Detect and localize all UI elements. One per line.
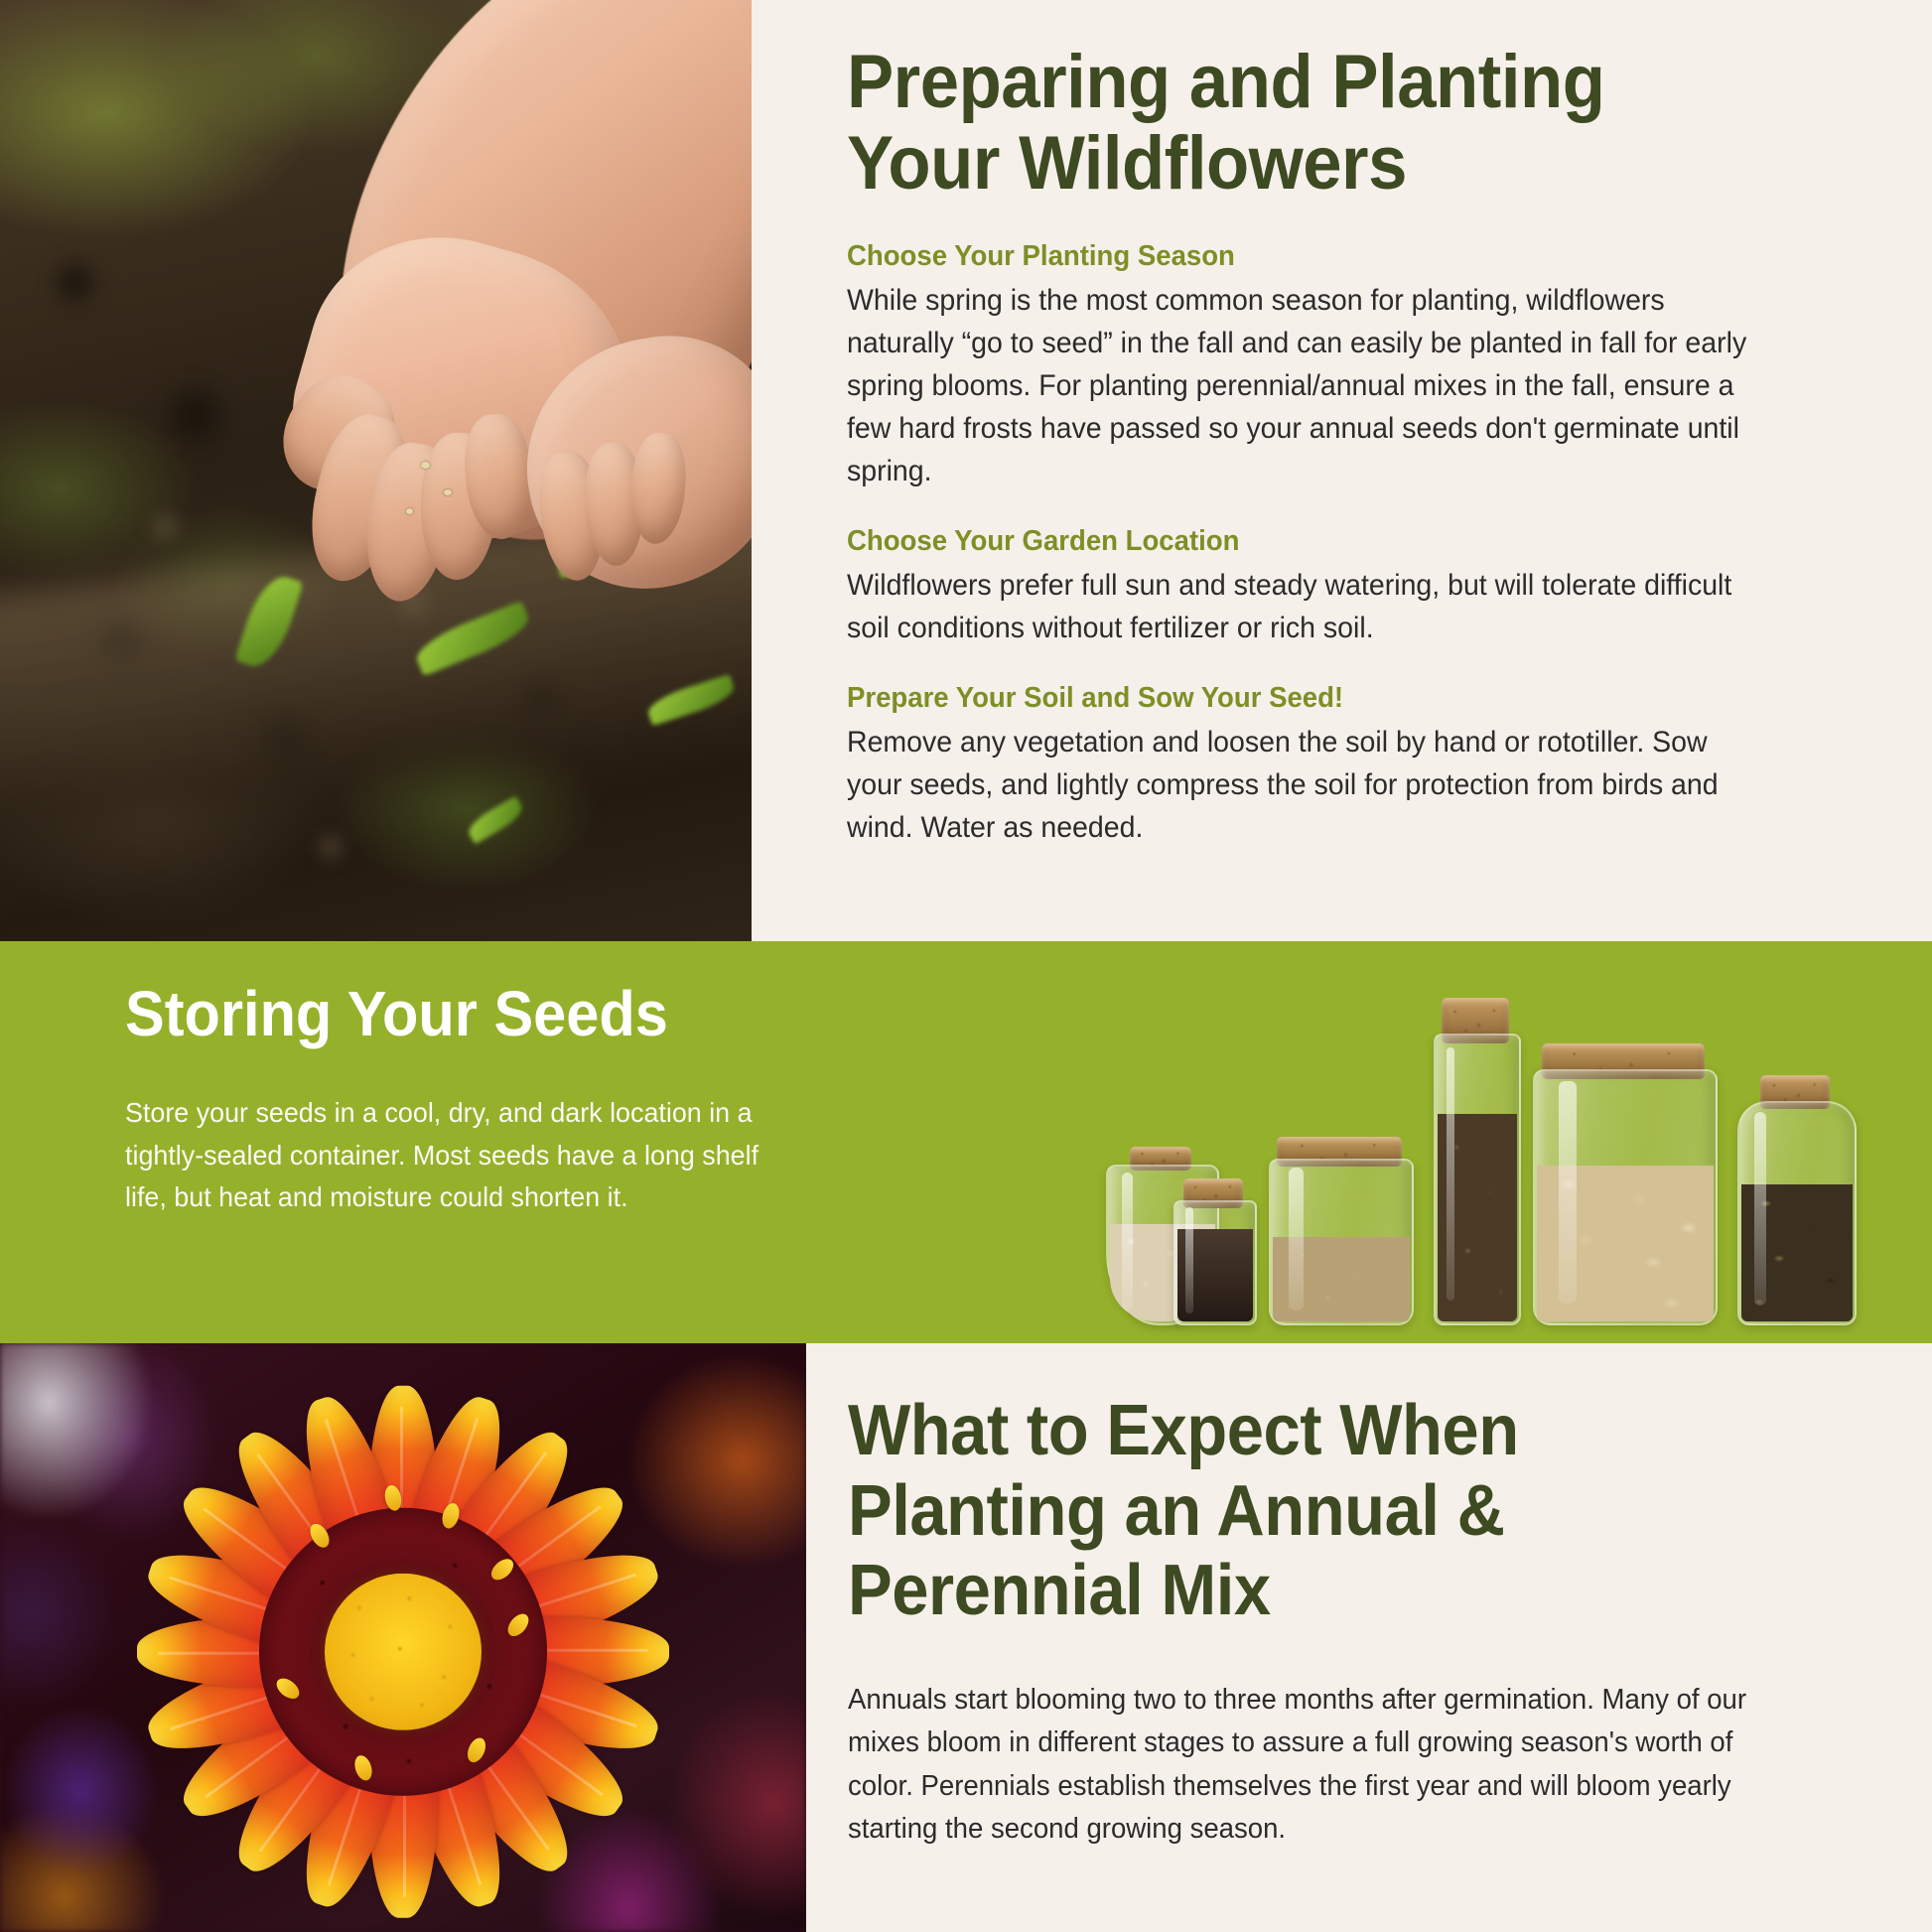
blanket-flower bbox=[61, 1343, 746, 1932]
storing-body: Store your seeds in a cool, dry, and dar… bbox=[125, 1092, 792, 1219]
flower-center bbox=[325, 1573, 482, 1729]
seed-jars-photo bbox=[1102, 941, 1817, 1343]
blanket-flower-photo bbox=[0, 1343, 806, 1932]
glass-jar bbox=[1533, 1069, 1718, 1325]
storing-heading: Storing Your Seeds bbox=[125, 981, 668, 1047]
falling-seed bbox=[406, 508, 413, 514]
glass-jar bbox=[1269, 1159, 1414, 1325]
falling-seed bbox=[444, 489, 452, 495]
infographic-page: Preparing and Planting Your Wildflowers … bbox=[0, 0, 1932, 1932]
seed-contents bbox=[1438, 1114, 1517, 1321]
glass-jar bbox=[1434, 1034, 1521, 1325]
subhead-garden-location: Choose Your Garden Location bbox=[847, 523, 1766, 559]
expect-heading: What to Expect When Planting an Annual &… bbox=[848, 1391, 1736, 1631]
seed-jar bbox=[1533, 1043, 1714, 1325]
expect-text-panel: What to Expect When Planting an Annual &… bbox=[806, 1343, 1932, 1932]
seed-jar bbox=[1434, 998, 1517, 1325]
seed-contents bbox=[1741, 1184, 1853, 1321]
body-garden-location: Wildflowers prefer full sun and steady w… bbox=[847, 565, 1766, 650]
seed-jar bbox=[1269, 1137, 1410, 1325]
what-to-expect-section: What to Expect When Planting an Annual &… bbox=[0, 1343, 1932, 1932]
seed-jar bbox=[1737, 1075, 1853, 1325]
subhead-prepare-soil: Prepare Your Soil and Sow Your Seed! bbox=[847, 680, 1766, 716]
body-prepare-soil: Remove any vegetation and loosen the soi… bbox=[847, 722, 1766, 850]
seed-contents bbox=[1273, 1237, 1410, 1321]
glass-jar bbox=[1173, 1200, 1257, 1325]
planting-text-panel: Preparing and Planting Your Wildflowers … bbox=[752, 0, 1932, 941]
body-planting-season: While spring is the most common season f… bbox=[847, 280, 1766, 492]
seed-jar bbox=[1173, 1178, 1253, 1325]
storing-seeds-band: Storing Your Seeds Store your seeds in a… bbox=[0, 941, 1932, 1343]
hands-sowing-seeds-photo bbox=[0, 0, 752, 941]
planting-section: Preparing and Planting Your Wildflowers … bbox=[0, 0, 1932, 941]
planting-heading: Preparing and Planting Your Wildflowers bbox=[847, 42, 1747, 205]
expect-body: Annuals start blooming two to three mont… bbox=[848, 1679, 1755, 1852]
glass-jar bbox=[1737, 1101, 1857, 1325]
seed-contents bbox=[1537, 1166, 1714, 1321]
falling-seed bbox=[421, 462, 430, 469]
subhead-planting-season: Choose Your Planting Season bbox=[847, 238, 1766, 274]
seed-contents bbox=[1177, 1229, 1253, 1321]
